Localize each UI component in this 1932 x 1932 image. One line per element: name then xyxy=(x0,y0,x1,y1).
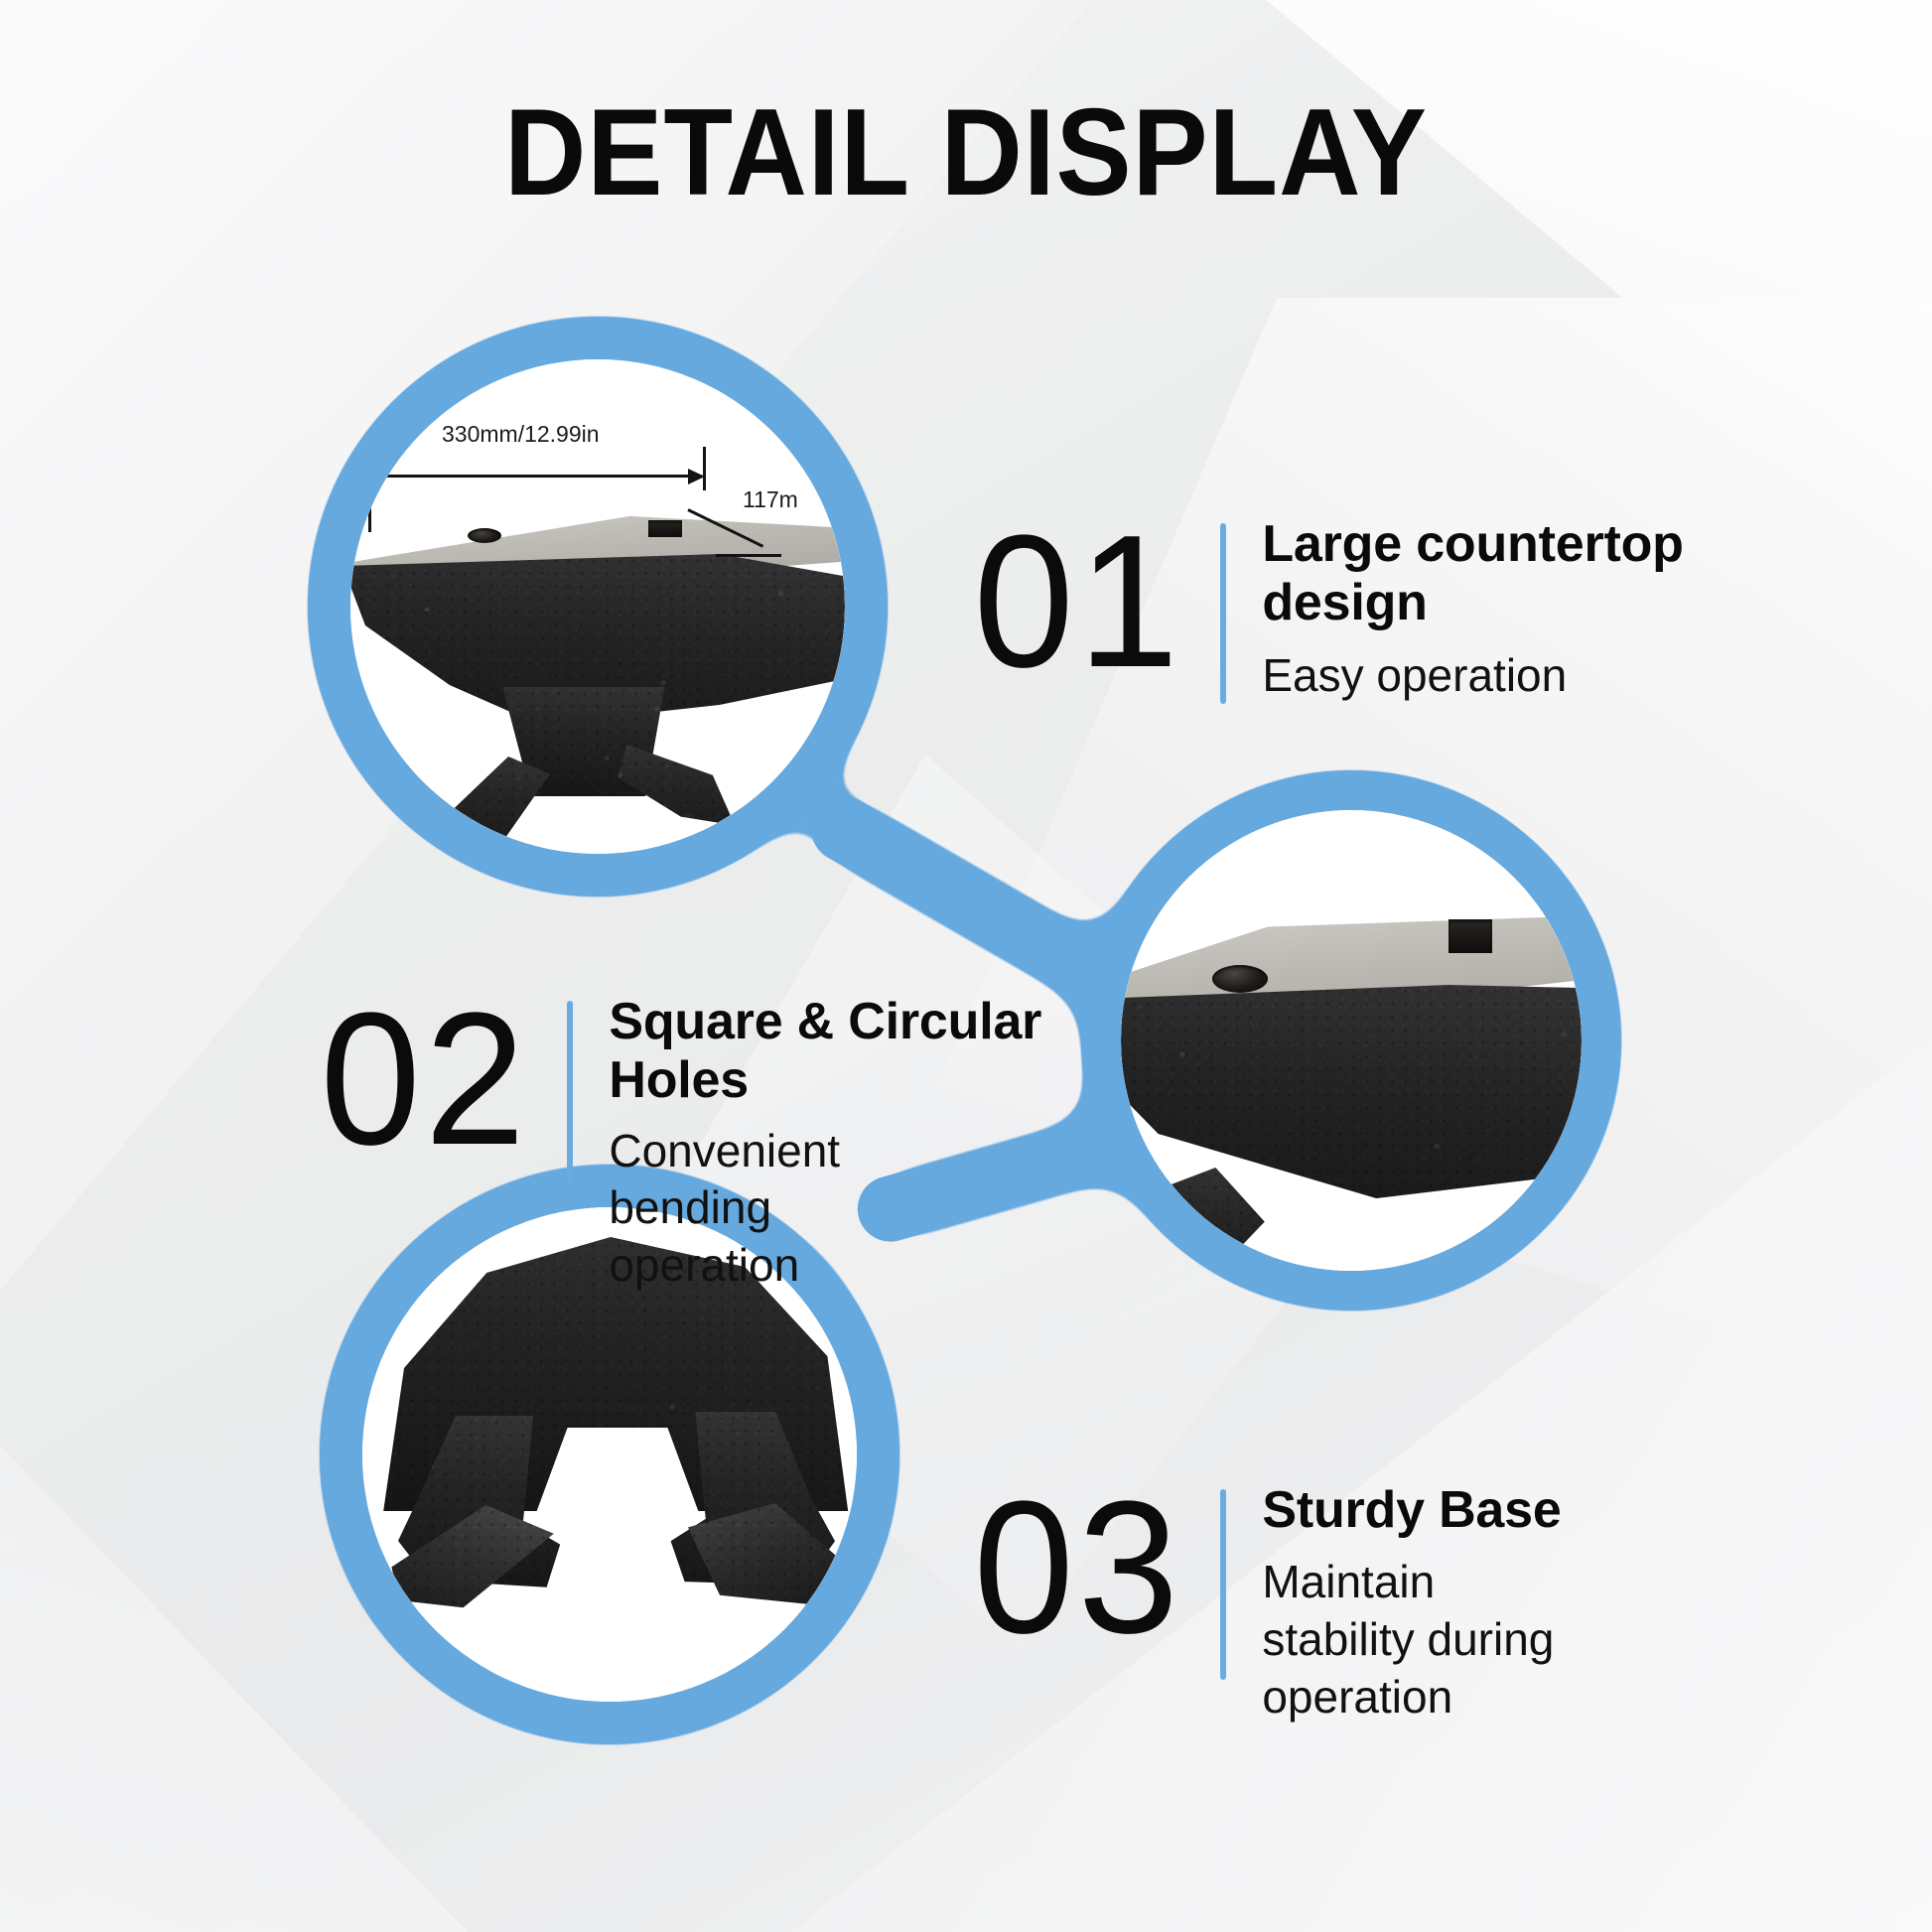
feature-divider-2 xyxy=(567,1001,573,1181)
feature-photo-1: 330mm/12.99in 117m xyxy=(350,359,845,854)
anvil-round-hole-closeup xyxy=(1212,965,1268,993)
dimension-label-width: 330mm/12.99in xyxy=(442,421,600,448)
feature-headline-3: Sturdy Base xyxy=(1262,1481,1580,1540)
feature-text-3: Sturdy Base Maintain stability during op… xyxy=(1262,1481,1580,1726)
feature-block-2: 02 Square & Circular Holes Convenient be… xyxy=(316,993,1085,1191)
dimension-label-depth: 117m xyxy=(743,486,798,513)
dimension-line-width xyxy=(368,475,702,478)
anvil-round-hole xyxy=(468,528,501,543)
feature-text-2: Square & Circular Holes Convenient bendi… xyxy=(609,993,1085,1295)
anvil-foot-closeup xyxy=(1121,1168,1280,1271)
feature-number-1: 01 xyxy=(973,515,1182,689)
anvil-square-hole-closeup xyxy=(1449,919,1492,953)
page-title: DETAIL DISPLAY xyxy=(77,91,1855,214)
feature-headline-1: Large countertop design xyxy=(1262,515,1689,633)
anvil-foot-closeup-grain xyxy=(1121,1168,1280,1271)
anvil-photo-face-closeup xyxy=(1121,810,1582,1271)
feature-divider-3 xyxy=(1220,1489,1226,1680)
feature-block-1: 01 Large countertop design Easy operatio… xyxy=(969,515,1689,714)
anvil-photo-top-view: 330mm/12.99in 117m xyxy=(350,359,845,854)
dimension-tick-left xyxy=(368,475,371,532)
feature-number-3: 03 xyxy=(973,1481,1182,1655)
feature-headline-2: Square & Circular Holes xyxy=(609,993,1085,1111)
feature-number-2: 02 xyxy=(320,993,529,1167)
feature-photo-2 xyxy=(1121,810,1582,1271)
feature-text-1: Large countertop design Easy operation xyxy=(1262,515,1689,704)
dimension-tick-right xyxy=(703,447,706,490)
feature-subtext-1: Easy operation xyxy=(1262,647,1689,705)
anvil-square-hole xyxy=(648,520,682,537)
infographic-canvas: DETAIL DISPLAY xyxy=(0,0,1932,1932)
dimension-line-depth xyxy=(716,554,781,557)
feature-block-3: 03 Sturdy Base Maintain stability during… xyxy=(969,1481,1580,1690)
background-base xyxy=(0,0,1932,1932)
feature-divider-1 xyxy=(1220,523,1226,704)
feature-subtext-2: Convenient bending operation xyxy=(609,1123,936,1296)
feature-subtext-3: Maintain stability during operation xyxy=(1262,1554,1580,1726)
